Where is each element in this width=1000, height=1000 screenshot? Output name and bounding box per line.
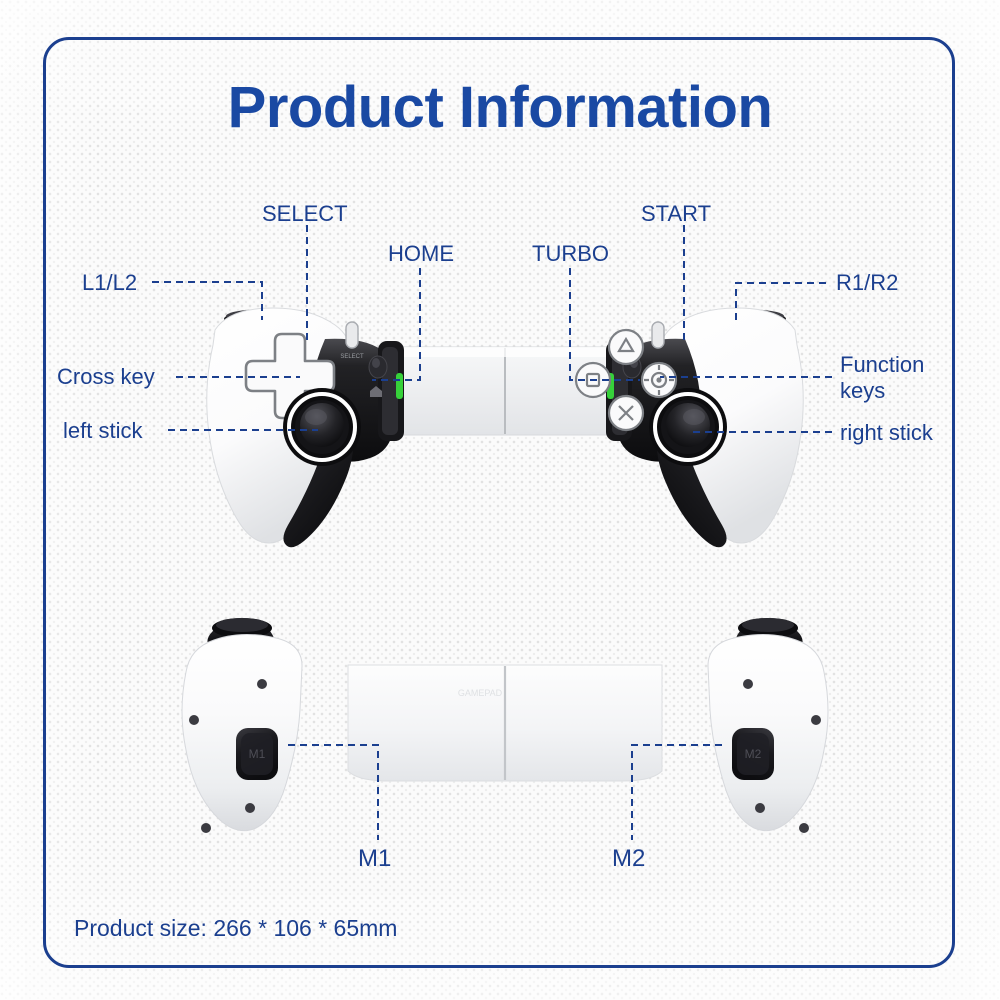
label-function-keys-line1: Function — [840, 352, 924, 377]
label-l1-l2: L1/L2 — [82, 270, 137, 295]
label-right-stick: right stick — [840, 420, 933, 445]
label-select: SELECT — [262, 201, 348, 226]
label-cross-key: Cross key — [57, 364, 155, 389]
label-m1: M1 — [358, 846, 391, 871]
product-size-note: Product size: 266 * 106 * 65mm — [74, 915, 397, 942]
label-start: START — [641, 201, 711, 226]
label-m2: M2 — [612, 846, 645, 871]
content-frame-border — [43, 37, 955, 968]
label-function-keys-line2: keys — [840, 378, 885, 403]
label-home: HOME — [388, 241, 454, 266]
page-title: Product Information — [0, 74, 1000, 141]
label-turbo: TURBO — [532, 241, 609, 266]
label-r1-r2: R1/R2 — [836, 270, 898, 295]
label-left-stick: left stick — [63, 418, 142, 443]
